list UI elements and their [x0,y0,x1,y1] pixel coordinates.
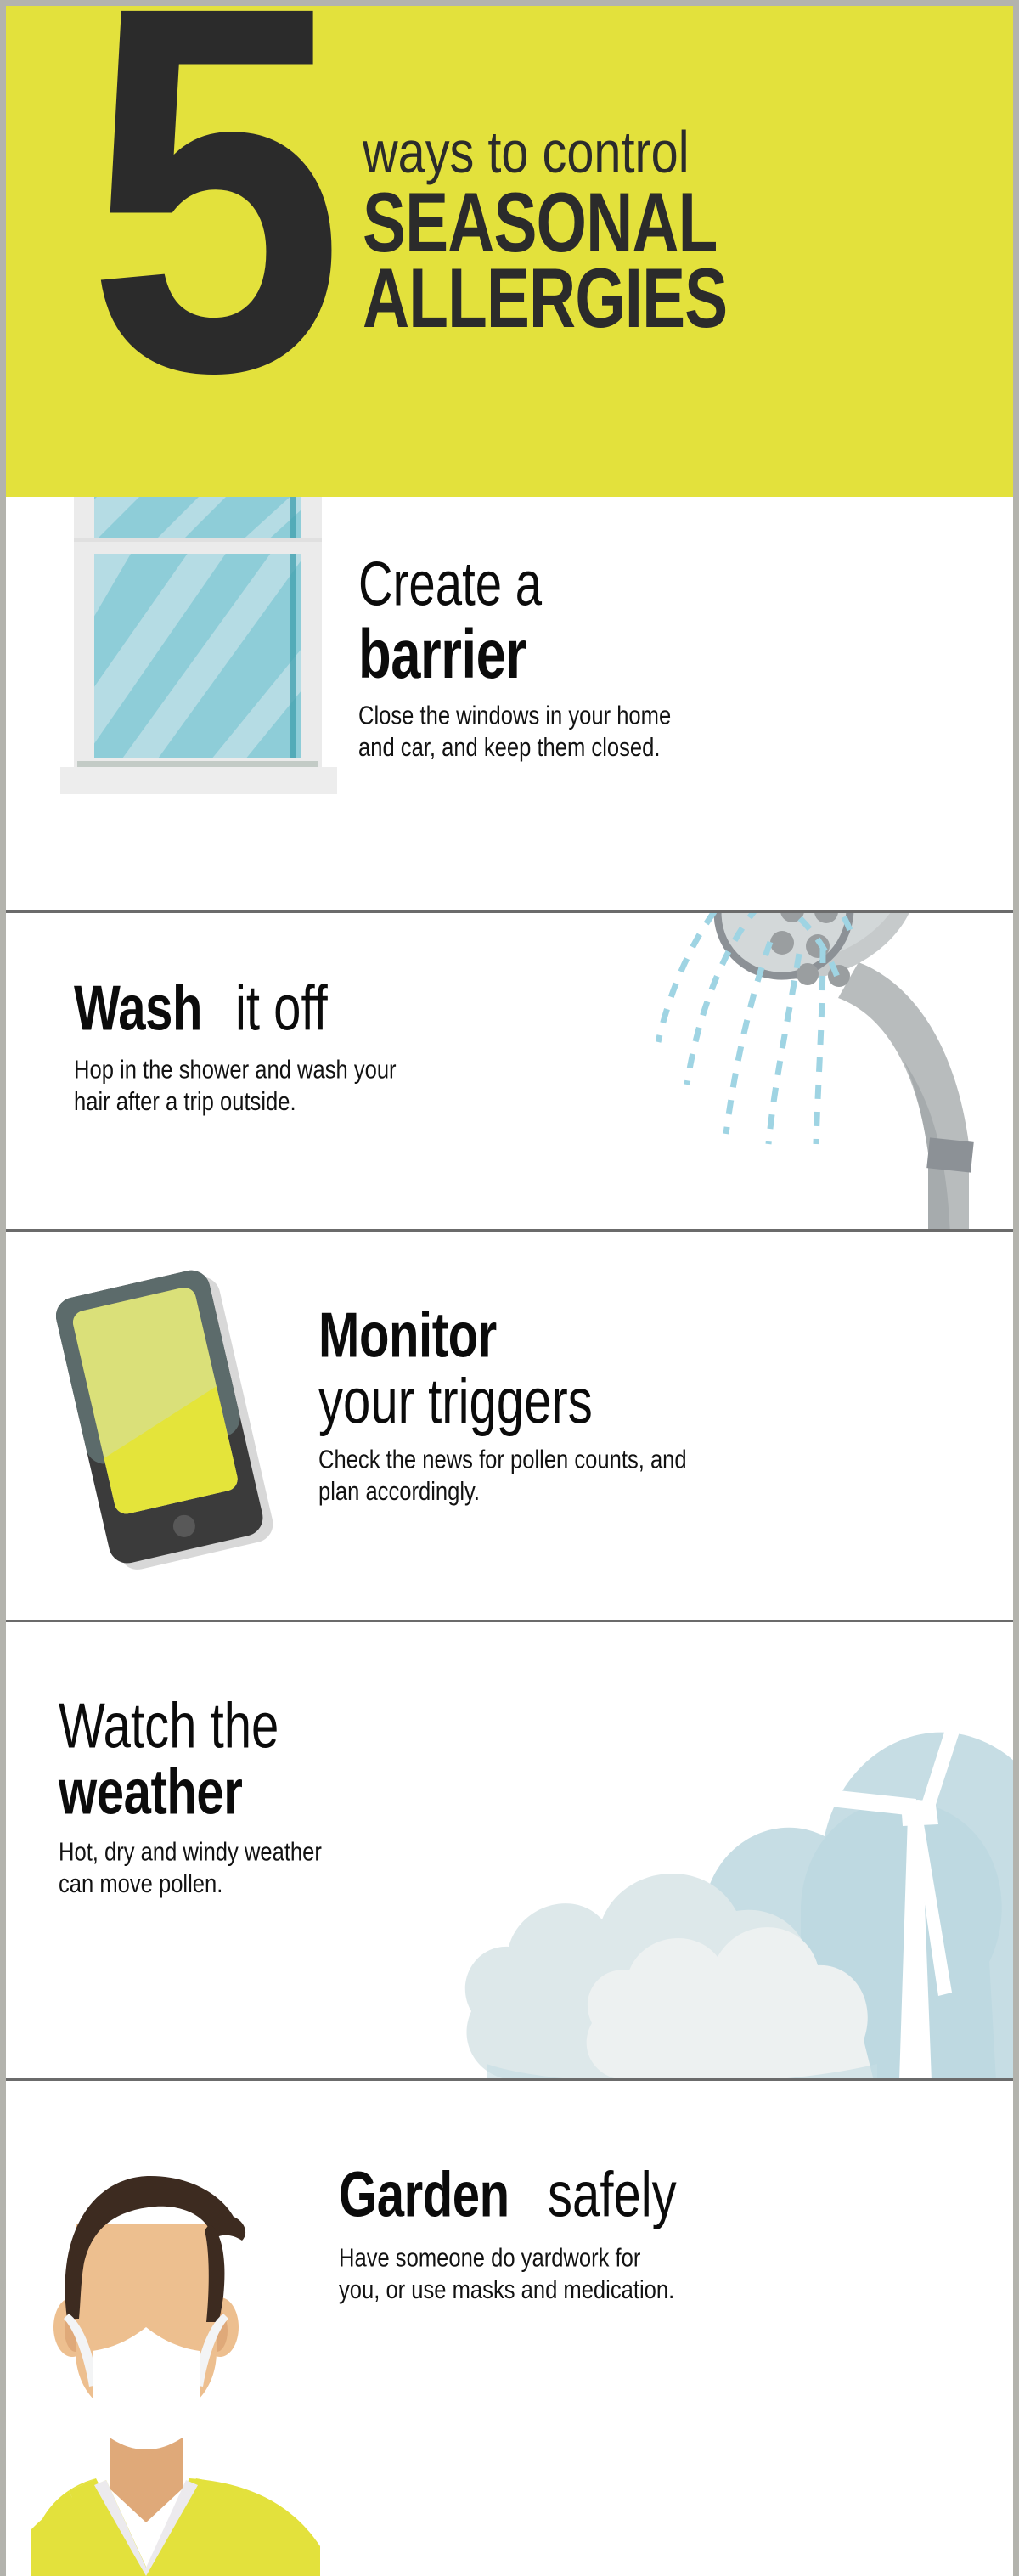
section-5-heading: Garden safely [339,2157,700,2222]
section-4-body: Hot, dry and windy weather can move poll… [59,1836,322,1899]
section-2-heading-thin: it off [235,971,328,1045]
window-icon [59,497,352,837]
section-5-text: Garden safely Have someone do yardwork f… [339,2157,700,2299]
section-wash-it-off: Wash it off Hop in the shower and wash y… [6,913,1013,1232]
infographic-root: 5 ways to control SEASONAL ALLERGIES [0,0,1019,2576]
section-watch-the-weather: Watch the weather Hot, dry and windy wea… [6,1622,1013,2081]
showerhead-icon [656,913,1013,1232]
person-with-mask-icon [31,2105,320,2576]
section-2-heading: Wash it off [74,971,420,1035]
section-4-text: Watch the weather Hot, dry and windy wea… [59,1688,341,1893]
section-5-heading-bold: Garden [339,2157,509,2231]
section-5-heading-thin: safely [548,2157,677,2231]
section-garden-safely: Garden safely Have someone do yardwork f… [6,2081,1013,2576]
section-5-body: Have someone do yardwork for you, or use… [339,2242,674,2305]
section-2-text: Wash it off Hop in the shower and wash y… [74,971,420,1111]
section-1-body: Close the windows in your home and car, … [358,700,671,763]
section-create-a-barrier: Create a barrier Close the windows in yo… [6,497,1013,913]
section-4-heading-thin: Watch the [59,1688,307,1762]
section-2-heading-bold: Wash [74,971,202,1045]
section-1-heading-thin: Create a [358,548,654,619]
header-subtitle: ways to control [363,125,735,183]
section-3-heading-bold: Monitor [318,1298,667,1372]
section-2-body: Hop in the shower and wash your hair aft… [74,1054,397,1117]
tablet-icon [33,1245,288,1602]
section-3-text: Monitor your triggers Check the news for… [318,1298,714,1501]
header-title-block: ways to control SEASONAL ALLERGIES [363,125,763,329]
section-1-text: Create a barrier Close the windows in yo… [358,548,695,757]
section-4-heading-bold: weather [59,1755,307,1829]
section-3-body: Check the news for pollen counts, and pl… [318,1444,687,1507]
headline-number: 5 [87,0,335,451]
header-banner: 5 ways to control SEASONAL ALLERGIES [6,6,1013,497]
header-title-line-2: ALLERGIES [363,256,727,341]
section-3-heading-thin: your triggers [318,1364,667,1438]
section-monitor-your-triggers: Monitor your triggers Check the news for… [6,1232,1013,1622]
section-1-heading-bold: barrier [358,615,654,694]
cloud-wind-turbine-icon [402,1622,1013,2081]
